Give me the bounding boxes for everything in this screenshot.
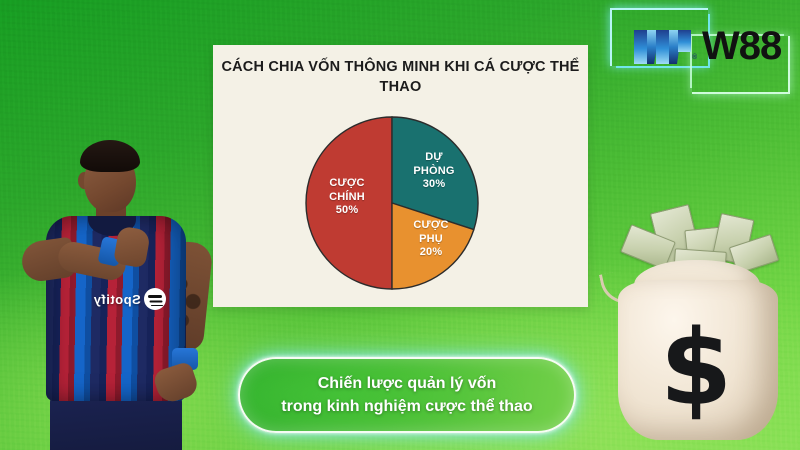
neon-banner: Chiến lược quản lý vốn trong kinh nghiệm… [238, 357, 576, 433]
w88-w-mark-icon [634, 30, 692, 64]
dollar-sign-icon: $ [596, 316, 796, 420]
pie-label-cuoc-phu: CƯỢC PHỤ 20% [396, 219, 466, 260]
spotify-icon [144, 288, 166, 310]
w88-logo[interactable]: ® W88 [606, 4, 792, 96]
chart-title: CÁCH CHIA VỐN THÔNG MINH KHI CÁ CƯỢC THỂ… [213, 57, 588, 97]
player-hair [80, 140, 140, 172]
pie-label-cuoc-chinh: CƯỢC CHÍNH 50% [310, 177, 384, 218]
pie-chart: CƯỢC CHÍNH 50% DỰ PHÒNG 30% CƯỢC PHỤ 20% [304, 115, 480, 291]
registered-trademark-icon: ® [692, 54, 697, 61]
pie-label-du-phong: DỰ PHÒNG 30% [398, 151, 470, 192]
football-player-image: Spotify [6, 120, 231, 450]
chart-card: CÁCH CHIA VỐN THÔNG MINH KHI CÁ CƯỢC THỂ… [213, 45, 588, 307]
money-bag-image: $ [596, 198, 796, 450]
w88-wordmark: W88 [702, 22, 781, 70]
banner-text: Chiến lược quản lý vốn trong kinh nghiệm… [281, 372, 532, 418]
poster-canvas: Spotify CÁCH CHIA VỐN THÔNG MINH KHI CÁ … [0, 0, 800, 450]
